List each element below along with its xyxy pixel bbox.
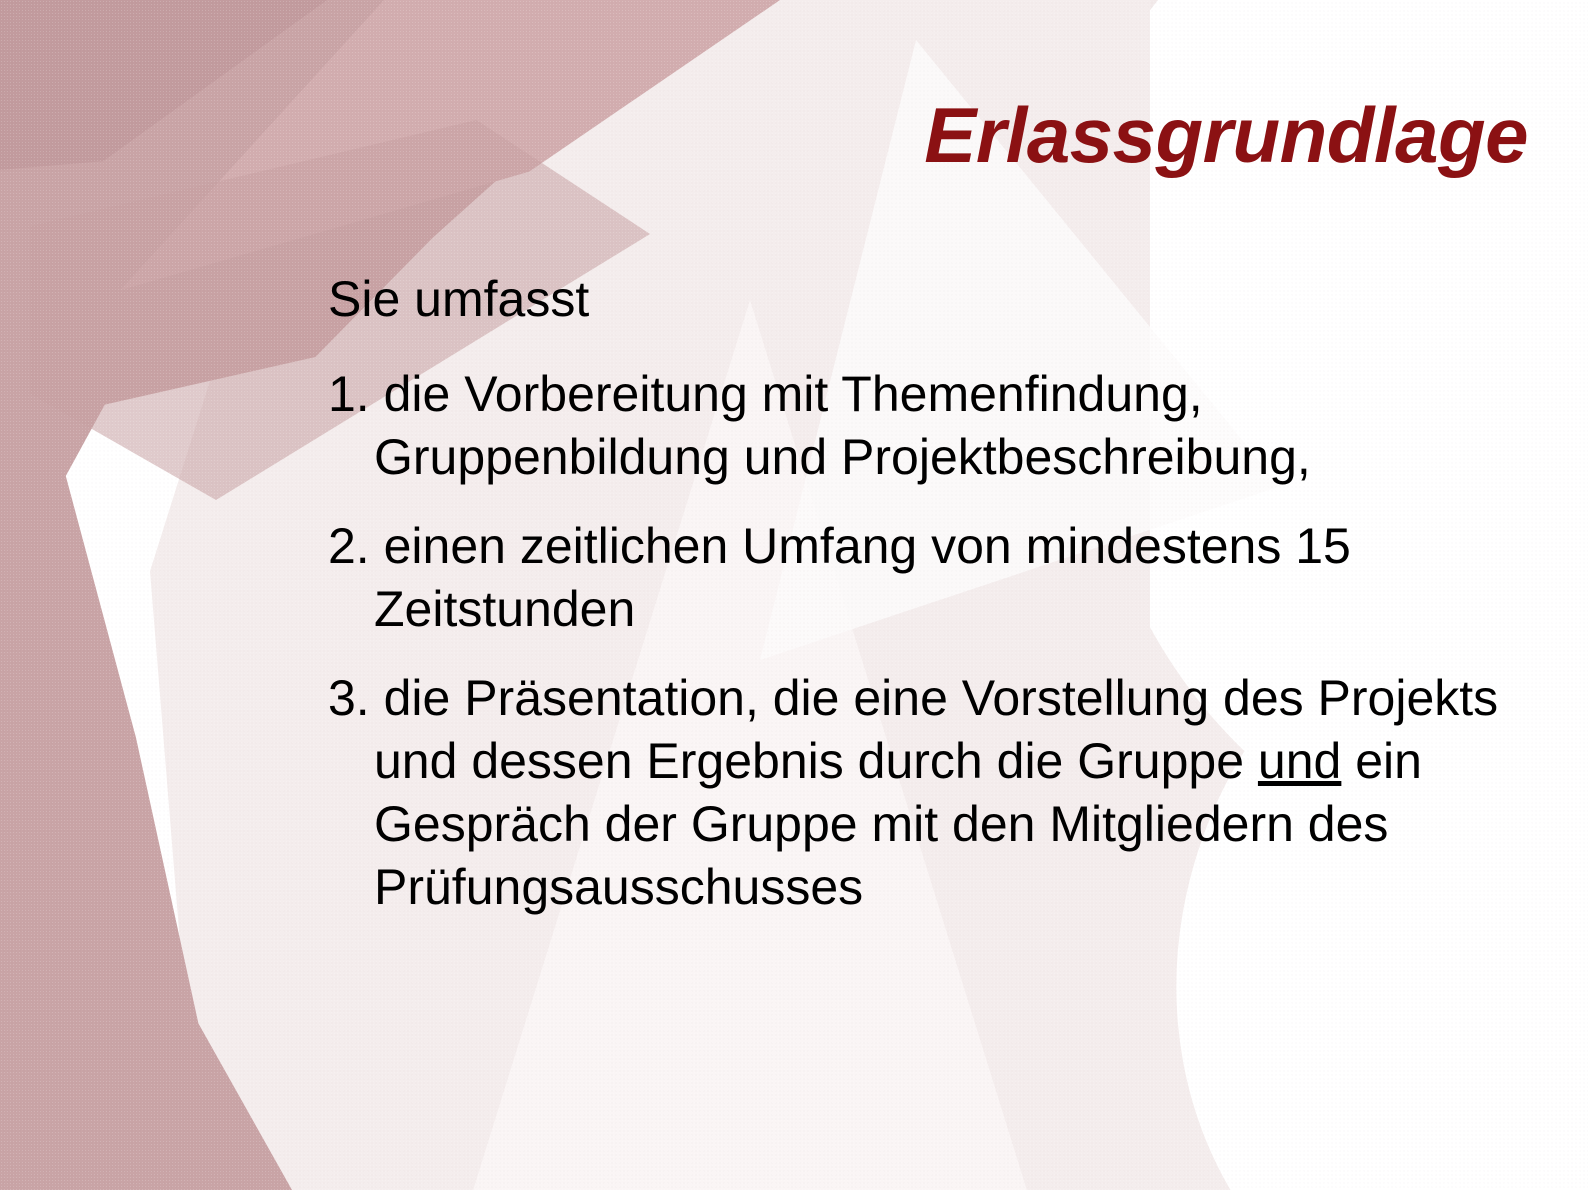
list-item-1-number: 1.	[328, 366, 370, 422]
presentation-slide: Erlassgrundlage Sie umfasst 1. die Vorbe…	[0, 0, 1588, 1190]
list-item-3-number: 3.	[328, 670, 370, 726]
intro-line: Sie umfasst	[328, 268, 1558, 331]
list-item-2: 2. einen zeitlichen Umfang von mindesten…	[328, 515, 1558, 641]
slide-body: Sie umfasst 1. die Vorbereitung mit Them…	[328, 268, 1558, 945]
list-item-3-emphasis: und	[1258, 733, 1341, 789]
list-item-2-number: 2.	[328, 518, 370, 574]
list-item-2-text: einen zeitlichen Umfang von mindestens 1…	[370, 518, 1351, 637]
list-item-1-text: die Vorbereitung mit Themenfindung, Grup…	[370, 366, 1311, 485]
slide-title: Erlassgrundlage	[60, 96, 1528, 174]
list-item-3: 3. die Präsentation, die eine Vorstellun…	[328, 667, 1558, 919]
list-item-1: 1. die Vorbereitung mit Themenfindung, G…	[328, 363, 1558, 489]
